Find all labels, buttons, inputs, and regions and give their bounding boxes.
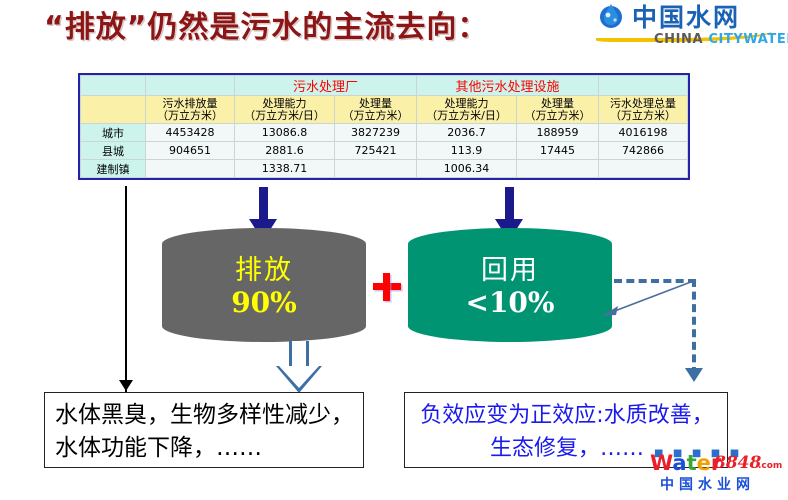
table-column-header-row: 污水排放量 （万立方米） 处理能力 （万立方米/日） 处理量 （万立方米） 处理… — [81, 96, 688, 124]
column-header-4-line1: 处理能力 — [417, 98, 516, 110]
column-header-1: 污水排放量 （万立方米） — [146, 96, 235, 124]
arrow-hollow-stem — [289, 341, 309, 369]
watermark-tld: .com — [758, 461, 782, 471]
cell-city-1: 13086.8 — [235, 124, 335, 142]
discharge-percent: 90% — [162, 286, 366, 319]
cell-county-3: 113.9 — [416, 142, 516, 160]
group-header-wwtp: 污水处理厂 — [235, 76, 417, 96]
column-header-3-line2: （万立方米） — [335, 110, 416, 122]
row-label-city: 城市 — [81, 124, 146, 142]
china-citywater-logo: 中国水网 CHINA CITYWATER — [596, 0, 788, 52]
watermark-letter-a: a — [672, 451, 686, 475]
cell-city-3: 2036.7 — [416, 124, 516, 142]
logo-english-china: CHINA — [654, 32, 708, 47]
column-header-5-line2: （万立方米） — [517, 110, 598, 122]
column-header-6-line1: 污水处理总量 — [599, 98, 687, 110]
column-header-4: 处理能力 （万立方米/日） — [416, 96, 516, 124]
cell-city-5: 4016198 — [599, 124, 688, 142]
page-title: “排放”仍然是污水的主流去向： — [44, 2, 488, 46]
column-header-2: 处理能力 （万立方米/日） — [235, 96, 335, 124]
cell-city-4: 188959 — [516, 124, 598, 142]
column-header-4-line2: （万立方米/日） — [417, 110, 516, 122]
watermark-chinese: 中国水业网 — [660, 474, 755, 494]
column-header-1-line2: （万立方米） — [146, 110, 234, 122]
arrow-feedback-to-reuse-icon — [596, 276, 700, 322]
column-header-1-line1: 污水排放量 — [146, 98, 234, 110]
arrow-hollow-head-inner — [279, 366, 319, 388]
arrow-head-black-down-icon — [119, 380, 133, 391]
reuse-label: 回用 — [408, 248, 612, 287]
row-label-county: 县城 — [81, 142, 146, 160]
cell-town-4 — [516, 160, 598, 178]
cell-town-5 — [599, 160, 688, 178]
row-label-town: 建制镇 — [81, 160, 146, 178]
logo-english-citywater: CITYWATER — [708, 32, 788, 47]
column-header-0 — [81, 96, 146, 124]
table-row: 建制镇 1338.71 1006.34 — [81, 160, 688, 178]
cell-county-4: 17445 — [516, 142, 598, 160]
watermark-number: 8848 — [714, 453, 761, 473]
discharge-cylinder: 排放 90% — [162, 228, 366, 342]
group-header-blank-1 — [81, 76, 146, 96]
plus-icon — [372, 272, 402, 302]
plus-icon-vertical-bar — [383, 273, 390, 301]
column-header-5: 处理量 （万立方米） — [516, 96, 598, 124]
group-header-blank-2 — [146, 76, 235, 96]
watermark-letter-w: W — [650, 451, 672, 475]
column-header-6-line2: （万立方米） — [599, 110, 687, 122]
dashed-connector-arrow-head-icon — [685, 368, 703, 382]
cell-town-3: 1006.34 — [416, 160, 516, 178]
cell-town-0 — [146, 160, 235, 178]
reuse-percent: <10% — [408, 286, 612, 319]
column-header-3: 处理量 （万立方米） — [335, 96, 417, 124]
column-header-2-line2: （万立方米/日） — [235, 110, 334, 122]
watermark-letter-e: e — [697, 451, 711, 475]
negative-outcome-box: 水体黑臭，生物多样性减少，水体功能下降，…… — [44, 392, 364, 468]
statistics-table: 污水处理厂 其他污水处理设施 污水排放量 （万立方米） 处理能力 （万立方米/日… — [78, 73, 690, 180]
logo-english-text: CHINA CITYWATER — [654, 32, 788, 47]
reuse-cylinder: 回用 <10% — [408, 228, 612, 342]
cell-county-2: 725421 — [335, 142, 417, 160]
connector-table-to-negative-box — [125, 186, 127, 394]
cell-county-0: 904651 — [146, 142, 235, 160]
cell-county-1: 2881.6 — [235, 142, 335, 160]
cell-town-1: 1338.71 — [235, 160, 335, 178]
watermark: ■ ■ ■ ■ ■ Water 8848 .com 中国水业网 — [648, 448, 788, 496]
column-header-6: 污水处理总量 （万立方米） — [599, 96, 688, 124]
table-row: 县城 904651 2881.6 725421 113.9 17445 7428… — [81, 142, 688, 160]
arrow-hollow-head — [276, 366, 322, 393]
cell-town-2 — [335, 160, 417, 178]
watermark-letter-t: t — [687, 451, 697, 475]
column-header-5-line1: 处理量 — [517, 98, 598, 110]
column-header-2-line1: 处理能力 — [235, 98, 334, 110]
cell-county-5: 742866 — [599, 142, 688, 160]
group-header-blank-3 — [599, 76, 688, 96]
column-header-3-line1: 处理量 — [335, 98, 416, 110]
cell-city-2: 3827239 — [335, 124, 417, 142]
discharge-label: 排放 — [162, 248, 366, 287]
cell-city-0: 4453428 — [146, 124, 235, 142]
arrow-discharge-to-negative-icon — [276, 341, 322, 393]
table-group-header-row: 污水处理厂 其他污水处理设施 — [81, 76, 688, 96]
group-header-other-facilities: 其他污水处理设施 — [416, 76, 598, 96]
watermark-brand: Water — [650, 451, 721, 475]
table-row: 城市 4453428 13086.8 3827239 2036.7 188959… — [81, 124, 688, 142]
